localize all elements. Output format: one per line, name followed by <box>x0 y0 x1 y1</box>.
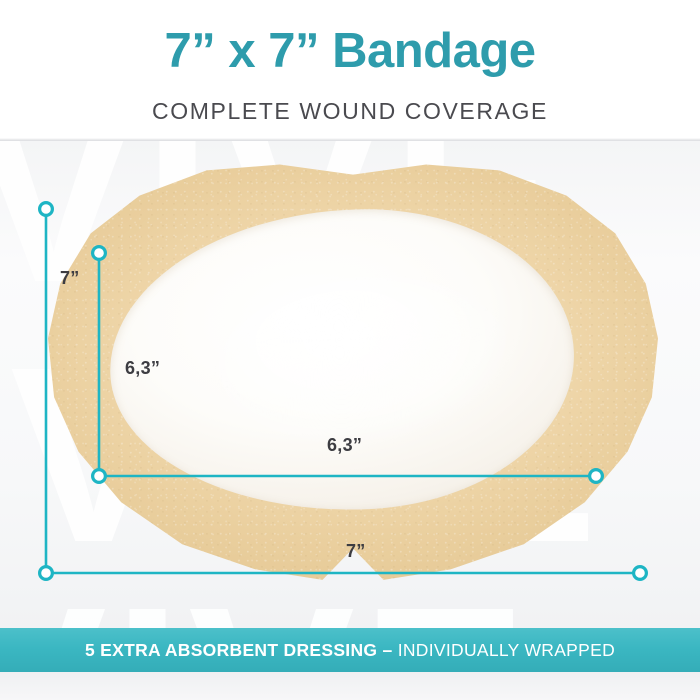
page-title: 7” x 7” Bandage <box>0 26 700 77</box>
footer-dash: – <box>377 640 397 660</box>
page-subtitle: COMPLETE WOUND COVERAGE <box>0 98 700 125</box>
bandage-pad-highlight <box>217 274 523 454</box>
footer-text: 5 EXTRA ABSORBENT DRESSING – INDIVIDUALL… <box>85 640 615 661</box>
header-divider <box>0 138 700 141</box>
footer-strong-text: 5 EXTRA ABSORBENT DRESSING <box>85 640 377 660</box>
product-infographic: 7” x 7” Bandage COMPLETE WOUND COVERAGE … <box>0 0 700 700</box>
dimension-label-outer-width: 7” <box>346 541 366 562</box>
dimension-label-outer-height: 7” <box>60 268 80 289</box>
header: 7” x 7” Bandage COMPLETE WOUND COVERAGE <box>0 0 700 140</box>
footer-light-text: INDIVIDUALLY WRAPPED <box>398 640 615 660</box>
footer-banner: 5 EXTRA ABSORBENT DRESSING – INDIVIDUALL… <box>0 628 700 672</box>
dimension-label-inner-height: 6,3” <box>125 358 160 379</box>
dimension-label-inner-width: 6,3” <box>327 435 362 456</box>
footer-base <box>0 672 700 700</box>
